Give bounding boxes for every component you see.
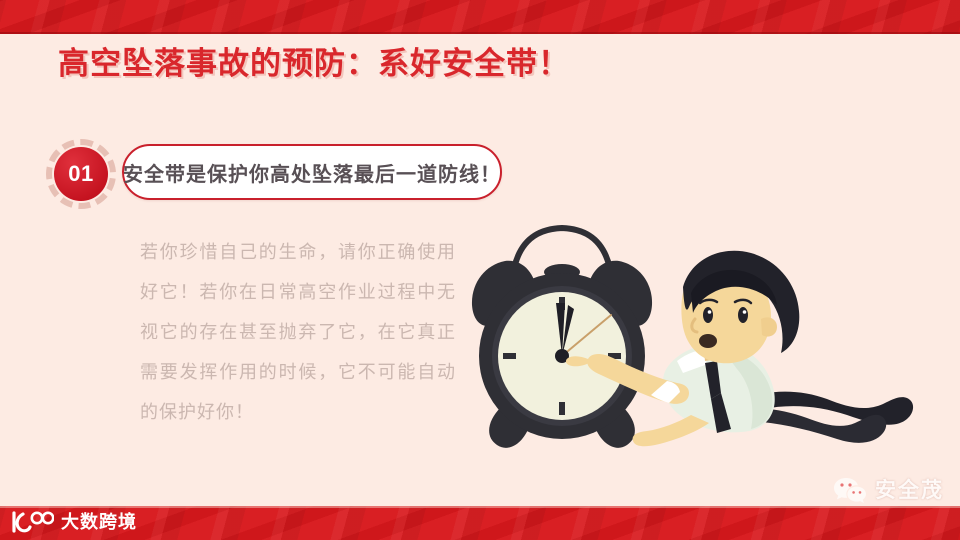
wechat-watermark: 安全茂	[833, 476, 944, 504]
banner-pattern	[0, 0, 960, 34]
step-badge: 01	[46, 139, 116, 209]
top-banner	[0, 0, 960, 34]
wechat-icon	[833, 476, 867, 504]
bottom-bar-top-edge	[0, 506, 960, 508]
badge-number: 01	[68, 163, 93, 185]
brand-name: 大数跨境	[61, 513, 137, 531]
subtitle-text: 安全带是保护你高处坠落最后一道防线！	[123, 158, 501, 187]
k100-infinity-mark-icon	[10, 510, 54, 534]
badge-circle: 01	[54, 147, 108, 201]
body-paragraph: 若你珍惜自己的生命，请你正确使用好它！若你在日常高空作业过程中无视它的存在甚至抛…	[140, 232, 456, 432]
watermark-text: 安全茂	[875, 480, 944, 501]
page-title: 高空坠落事故的预防：系好安全带！	[58, 38, 570, 83]
illustration	[455, 215, 925, 480]
bottom-bar: 大数跨境	[0, 506, 960, 540]
brand-logo: 大数跨境	[10, 508, 137, 536]
alarm-clock-icon	[472, 228, 652, 448]
bottom-bar-pattern	[0, 506, 960, 540]
subtitle-pill: 安全带是保护你高处坠落最后一道防线！	[122, 144, 502, 200]
slide-canvas: 高空坠落事故的预防：系好安全带！ 01 安全带是保护你高处坠落最后一道防线！ 若…	[0, 0, 960, 540]
banner-bottom-edge	[0, 32, 960, 34]
